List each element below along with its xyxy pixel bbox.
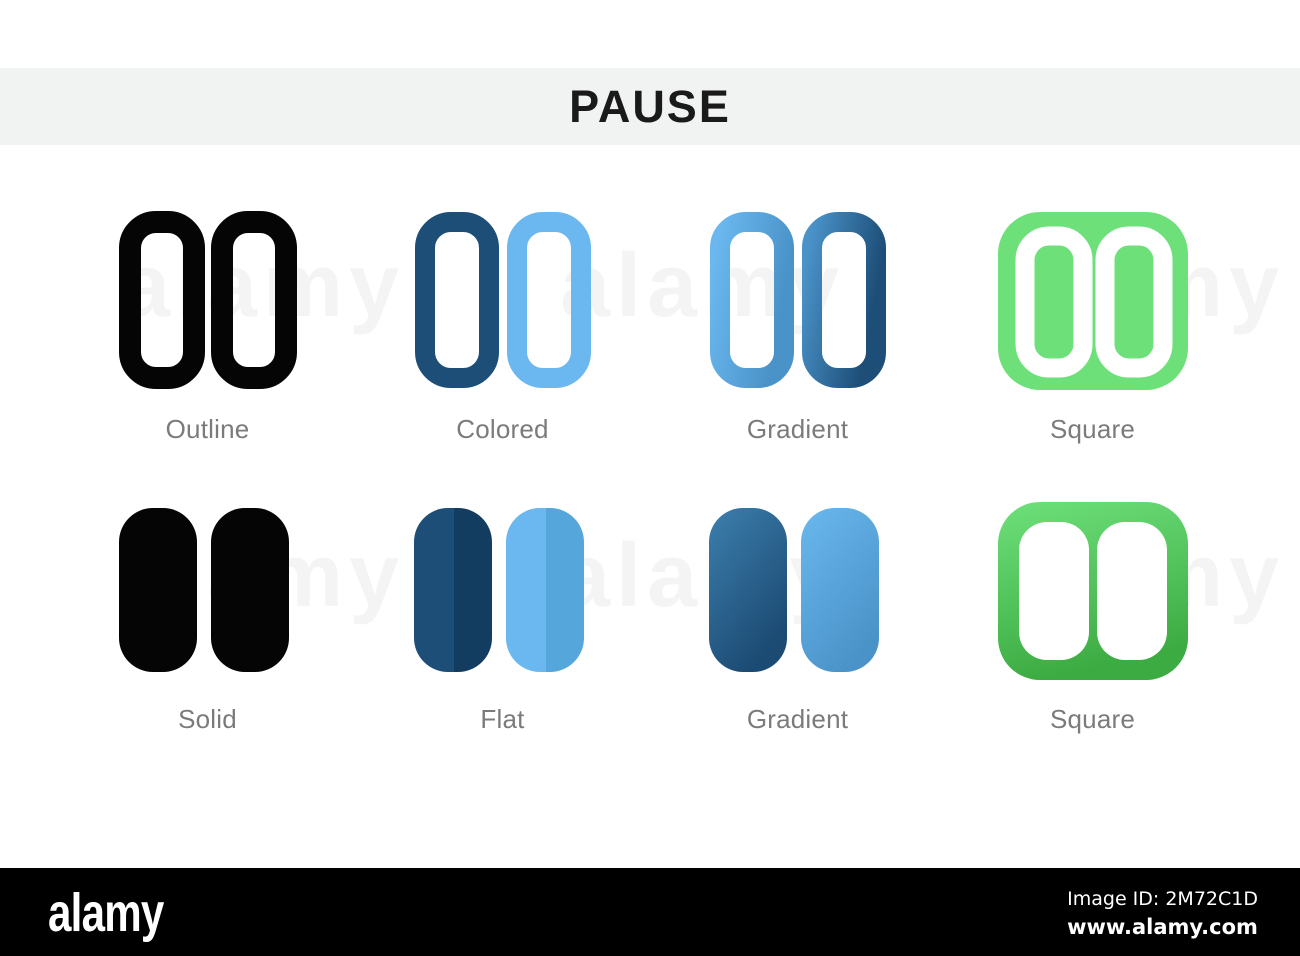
pause-icon-gradient-filled[interactable] [698,490,898,690]
icon-row: Solid [60,490,1240,780]
icon-cell-flat[interactable]: Flat [355,490,650,780]
pause-icon-gradient-outline[interactable] [698,200,898,400]
icon-row: Outline Colored [60,200,1240,490]
icon-style-grid: Outline Colored [0,200,1300,840]
icon-label: Square [1050,704,1135,735]
icon-cell-square-filled[interactable]: Square [945,490,1240,780]
alamy-url-text[interactable]: www.alamy.com [1067,913,1258,942]
pause-square-icon-outline[interactable] [993,200,1193,400]
footer-meta: Image ID: 2M72C1D www.alamy.com [1067,886,1258,942]
icon-cell-gradient-filled[interactable]: Gradient [650,490,945,780]
icon-label: Outline [166,414,250,445]
pause-icon-colored[interactable] [403,200,603,400]
icon-label: Gradient [747,414,848,445]
icon-cell-square-outline[interactable]: Square [945,200,1240,490]
icon-label: Flat [480,704,524,735]
icon-label: Gradient [747,704,848,735]
icon-label: Colored [456,414,548,445]
icon-cell-colored[interactable]: Colored [355,200,650,490]
icon-label: Solid [178,704,237,735]
icon-label: Square [1050,414,1135,445]
icon-cell-solid[interactable]: Solid [60,490,355,780]
footer-bar: alamy Image ID: 2M72C1D www.alamy.com [0,868,1300,956]
pause-icon-outline[interactable] [108,200,308,400]
image-id-text: Image ID: 2M72C1D [1067,886,1258,913]
icon-cell-gradient-outline[interactable]: Gradient [650,200,945,490]
pause-square-icon-filled[interactable] [993,490,1193,690]
alamy-logo[interactable]: alamy [48,882,164,944]
pause-icon-flat[interactable] [403,490,603,690]
page-title: PAUSE [569,84,731,129]
header-banner: PAUSE [0,68,1300,145]
pause-icon-solid[interactable] [108,490,308,690]
icon-cell-outline[interactable]: Outline [60,200,355,490]
